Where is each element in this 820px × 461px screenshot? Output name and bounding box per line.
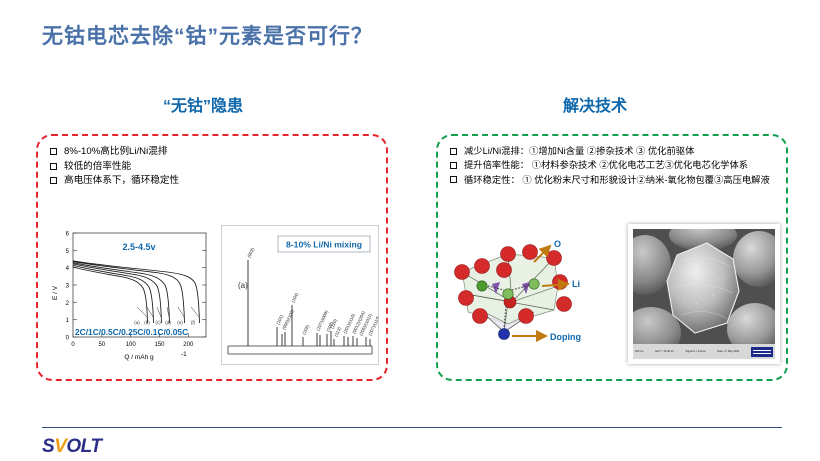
bullet-text: 循环稳定性： ① 优化粉末尺寸和形貌设计②纳米-氧化物包覆③高压电解液	[464, 174, 770, 187]
label-oxygen: O	[554, 239, 561, 249]
curve-label-e: (e)	[177, 320, 183, 325]
svg-text:6: 6	[66, 232, 70, 238]
xrd-panel-label: (a)	[238, 281, 248, 290]
curve-label-d: (d)	[165, 320, 171, 325]
label-lithium: Li	[572, 279, 580, 289]
logo-letter-v: V	[54, 436, 66, 457]
bullet-text: 较低的倍率性能	[64, 160, 131, 174]
figure-crystal-structure: O Li Doping	[446, 224, 624, 368]
section-heading-solutions: 解决技术	[563, 92, 627, 116]
curve-label-a: (a)	[134, 320, 140, 325]
section-heading-risks: “无钴”隐患	[163, 92, 243, 116]
svg-text:50: 50	[98, 342, 105, 348]
figure-discharge-curves: 0 1 2 3 4 5 6 0 50 100 150 200 E / V Q /…	[47, 225, 217, 365]
square-bullet-icon	[450, 176, 457, 183]
annotation-li-ni-mixing: 8-10% Li/Ni mixing	[286, 240, 362, 250]
svg-text:0: 0	[71, 342, 75, 348]
svg-text:Q / mAh g: Q / mAh g	[124, 354, 154, 361]
figure-sem-image: 200 nm EHT = 10.00 kV Signal A = InLens …	[628, 224, 780, 364]
logo-letter-olt: OLT	[66, 436, 101, 457]
curve-label-b: (b)	[144, 320, 150, 325]
bullet-text: 减少Li/Ni混排：①增加Ni含量 ②掺杂技术 ③ 优化前驱体	[464, 145, 694, 158]
svg-text:-1: -1	[181, 351, 187, 358]
svg-text:4: 4	[66, 266, 70, 272]
sem-date-label: Date: 17 May 2020	[717, 350, 748, 354]
annotation-c-rates: 2C/1C/0.5C/0.25C/0.1C/0.05C	[75, 327, 188, 337]
sem-signal-label: Signal A = InLens	[685, 350, 714, 354]
footer-divider	[42, 427, 782, 428]
list-item: 循环稳定性： ① 优化粉末尺寸和形貌设计②纳米-氧化物包覆③高压电解液	[450, 174, 778, 187]
sem-scale-label: 200 nm	[635, 350, 652, 354]
annotation-voltage-range: 2.5-4.5v	[122, 242, 155, 252]
square-bullet-icon	[50, 163, 57, 170]
square-bullet-icon	[50, 148, 57, 155]
figure-xrd-pattern: (a) (003) (101) (006)/(102) (104) (105) …	[221, 225, 379, 365]
list-item: 提升倍率性能： ①材料参杂技术 ②优化电芯工艺③优化电芯化学体系	[450, 159, 778, 172]
bullet-list-solutions: 减少Li/Ni混排：①增加Ni含量 ②掺杂技术 ③ 优化前驱体 提升倍率性能： …	[450, 145, 778, 188]
bullet-text: 提升倍率性能： ①材料参杂技术 ②优化电芯工艺③优化电芯化学体系	[464, 159, 748, 172]
svg-text:0: 0	[66, 336, 70, 342]
svolt-logo: SVOLT	[42, 437, 101, 456]
svg-text:1: 1	[66, 318, 70, 324]
label-doping: Doping	[550, 332, 581, 342]
list-item: 高电压体系下，循环稳定性	[50, 174, 378, 188]
sem-info-bar: 200 nm EHT = 10.00 kV Signal A = InLens …	[633, 344, 775, 359]
panel-solutions: 减少Li/Ni混排：①增加Ni含量 ②掺杂技术 ③ 优化前驱体 提升倍率性能： …	[436, 134, 788, 381]
square-bullet-icon	[450, 162, 457, 169]
square-bullet-icon	[50, 177, 57, 184]
svg-text:150: 150	[154, 342, 165, 348]
sem-logo-icon	[751, 347, 773, 357]
square-bullet-icon	[450, 148, 457, 155]
curve-label-c: (c)	[155, 320, 161, 325]
logo-letter-s: S	[42, 436, 54, 457]
sem-eht-label: EHT = 10.00 kV	[655, 350, 682, 354]
svg-text:3: 3	[66, 284, 70, 290]
bullet-list-risks: 8%-10%高比例Li/Ni混排 较低的倍率性能 高电压体系下，循环稳定性	[50, 145, 378, 189]
curve-label-f: (f)	[191, 320, 196, 325]
panel-risks: 8%-10%高比例Li/Ni混排 较低的倍率性能 高电压体系下，循环稳定性	[36, 134, 388, 381]
svg-text:200: 200	[183, 342, 194, 348]
list-item: 较低的倍率性能	[50, 160, 378, 174]
list-item: 8%-10%高比例Li/Ni混排	[50, 145, 378, 159]
bullet-text: 8%-10%高比例Li/Ni混排	[64, 145, 167, 159]
svg-text:E / V: E / V	[52, 285, 59, 300]
sem-micrograph: 200 nm EHT = 10.00 kV Signal A = InLens …	[633, 229, 775, 359]
list-item: 减少Li/Ni混排：①增加Ni含量 ②掺杂技术 ③ 优化前驱体	[450, 145, 778, 158]
page-title: 无钴电芯去除“钴”元素是否可行？	[42, 20, 373, 50]
svg-text:5: 5	[66, 249, 70, 255]
svg-text:2: 2	[66, 301, 70, 307]
svg-text:100: 100	[126, 342, 137, 348]
atom-doping	[499, 329, 510, 340]
bullet-text: 高电压体系下，循环稳定性	[64, 174, 179, 188]
